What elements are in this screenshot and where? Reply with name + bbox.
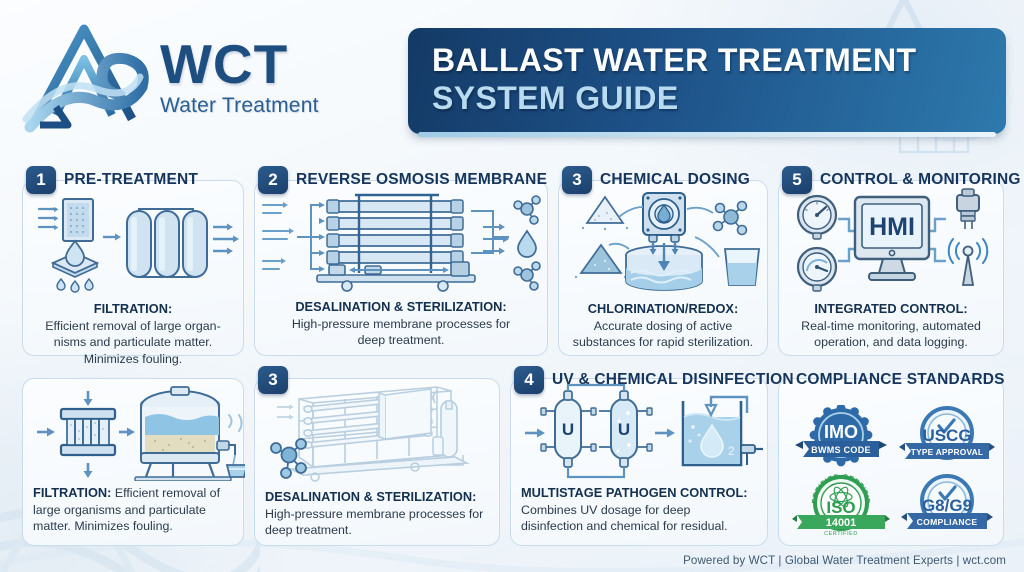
brand-name: WCT: [160, 38, 319, 90]
uv-reactors-tank-icon: U U: [511, 383, 769, 483]
mountain-wave-logo-icon: [22, 15, 154, 135]
card-title-control-monitoring: CONTROL & MONITORING: [820, 171, 1021, 189]
caption-line-2: deep treatment.: [358, 333, 445, 347]
caption-heading: CHLORINATION/REDOX:: [588, 301, 738, 316]
card-desalination-detail: DESALINATION & STERILIZATION: High-press…: [254, 378, 500, 546]
card-caption-reverse-osmosis: DESALINATION & STERILIZATION: High-press…: [263, 299, 539, 349]
seal-iso: CERTIFIED CERTIFIED ISO 14001 CERTIFIED: [791, 473, 891, 537]
filter-screen-three-vessels-icon: [23, 187, 245, 299]
brand-logo-block: WCT Water Treatment: [22, 10, 392, 140]
caption-heading: DESALINATION & STERILIZATION:: [265, 489, 476, 504]
uv-reactor-label-2: U: [618, 420, 630, 439]
caption-line-1: Combines UV dosage for deep: [521, 503, 690, 517]
banner-underglow: [418, 132, 996, 137]
caption-line-2: operation, and data logging.: [814, 335, 968, 349]
card-reverse-osmosis: DESALINATION & STERILIZATION: High-press…: [254, 180, 548, 356]
g8g9-seal-name: G8/G9: [922, 496, 972, 515]
step-badge-1: 1: [26, 166, 56, 194]
uscg-seal-ribbon: TYPE APPROVAL: [911, 447, 983, 457]
ro-membrane-rack-icon: [255, 187, 549, 297]
title-banner: BALLAST WATER TREATMENT SYSTEM GUIDE: [408, 28, 1006, 134]
hmi-screen-gauges-icon: HMI: [779, 185, 1005, 299]
imo-seal-name: IMO: [824, 422, 858, 442]
caption-line-1: Real-time monitoring, automated: [801, 319, 981, 333]
footer-credit: Powered by WCT | Global Water Treatment …: [683, 554, 1006, 567]
seal-imo: IMO BWMS CODE: [791, 405, 891, 469]
seal-g8g9: G8/G9 COMPLIANCE: [897, 473, 997, 537]
card-caption-desalination-detail: DESALINATION & STERILIZATION: High-press…: [265, 489, 491, 539]
caption-line-1: Efficient removal of large organ-: [45, 319, 220, 333]
iso-seal-ribbon: 14001: [826, 517, 857, 529]
card-caption-pre-treatment: FILTRATION: Efficient removal of large o…: [31, 301, 235, 367]
card-caption-chemical-dosing: CHLORINATION/REDOX: Accurate dosing of a…: [567, 301, 759, 351]
card-filtration-detail: FILTRATION: Efficient removal of large o…: [22, 378, 244, 546]
uv-reactor-label-1: U: [562, 420, 574, 439]
step-badge-3: 3: [562, 166, 592, 194]
imo-badge-icon: IMO BWMS CODE: [791, 405, 891, 469]
compliance-seal-grid: IMO BWMS CODE USCG T: [791, 405, 993, 535]
caption-line-2: disinfection and chemical for residual.: [521, 519, 728, 533]
caption-line-1: High-pressure membrane processes for: [292, 317, 510, 331]
step-badge-4: 4: [514, 366, 544, 394]
step-badge-2: 2: [258, 166, 288, 194]
g8g9-seal-ribbon: COMPLIANCE: [917, 517, 978, 527]
caption-line-2: substances for rapid sterilization.: [573, 335, 753, 349]
caption-heading: MULTISTAGE PATHOGEN CONTROL:: [521, 485, 748, 500]
tank-subscript: 2: [728, 444, 735, 458]
ro-skid-isometric-icon: [255, 381, 501, 485]
card-title-pre-treatment: PRE-TREATMENT: [64, 171, 198, 189]
card-caption-filtration-detail: FILTRATION: Efficient removal of large o…: [33, 485, 233, 535]
caption-heading: FILTRATION:: [33, 485, 111, 500]
poster-header: WCT Water Treatment BALLAST WATER TREATM…: [0, 0, 1024, 152]
infographic-poster: WCT Water Treatment BALLAST WATER TREATM…: [0, 0, 1024, 572]
caption-line-2: deep treatment.: [265, 523, 352, 537]
uscg-badge-icon: USCG TYPE APPROVAL: [897, 405, 997, 469]
card-chemical-dosing: CHLORINATION/REDOX: Accurate dosing of a…: [558, 180, 768, 356]
caption-heading: INTEGRATED CONTROL:: [814, 301, 967, 316]
iso-seal-name: ISO: [826, 498, 855, 517]
brand-tagline: Water Treatment: [160, 94, 319, 118]
poster-title-line1: BALLAST WATER TREATMENT: [432, 42, 1006, 80]
hmi-screen-label: HMI: [869, 213, 915, 241]
iso-seal-subtext: CERTIFIED: [824, 531, 858, 537]
poster-title-line2: SYSTEM GUIDE: [432, 80, 1006, 118]
step-badge-5: 5: [782, 166, 812, 194]
card-title-uv-disinfection: UV & CHEMICAL DISINFECTION: [552, 371, 794, 389]
card-pre-treatment: FILTRATION: Efficient removal of large o…: [22, 180, 244, 356]
card-compliance-standards: IMO BWMS CODE USCG T: [778, 378, 1004, 546]
card-caption-uv-disinfection: MULTISTAGE PATHOGEN CONTROL: Combines UV…: [521, 485, 759, 535]
g8g9-badge-icon: G8/G9 COMPLIANCE: [897, 473, 997, 537]
caption-line-1: Accurate dosing of active: [594, 319, 732, 333]
card-title-reverse-osmosis: REVERSE OSMOSIS MEMBRANE: [296, 171, 547, 189]
card-uv-disinfection: U U: [510, 378, 768, 546]
dosing-pump-tank-icon: [559, 187, 769, 299]
caption-line-2: nisms and particulate matter.: [54, 335, 212, 349]
card-control-monitoring: HMI INTEGRATED CONTROL: Real-time monito…: [778, 180, 1004, 356]
caption-line-1: High-pressure membrane processes for: [265, 507, 483, 521]
step-badge-3-lower: 3: [258, 366, 288, 394]
card-title-chemical-dosing: CHEMICAL DOSING: [600, 171, 750, 189]
iso-badge-icon: CERTIFIED CERTIFIED ISO 14001 CERTIFIED: [791, 473, 891, 537]
uscg-seal-name: USCG: [922, 426, 971, 445]
seal-uscg: USCG TYPE APPROVAL: [897, 405, 997, 469]
card-title-compliance: COMPLIANCE STANDARDS: [796, 371, 986, 389]
caption-line-3: Minimizes fouling.: [84, 352, 182, 366]
cartridge-sand-filter-icon: [23, 383, 245, 481]
caption-heading: FILTRATION:: [94, 301, 172, 316]
caption-heading: DESALINATION & STERILIZATION:: [295, 299, 506, 314]
imo-seal-ribbon: BWMS CODE: [811, 445, 871, 455]
card-caption-control-monitoring: INTEGRATED CONTROL: Real-time monitoring…: [787, 301, 995, 351]
